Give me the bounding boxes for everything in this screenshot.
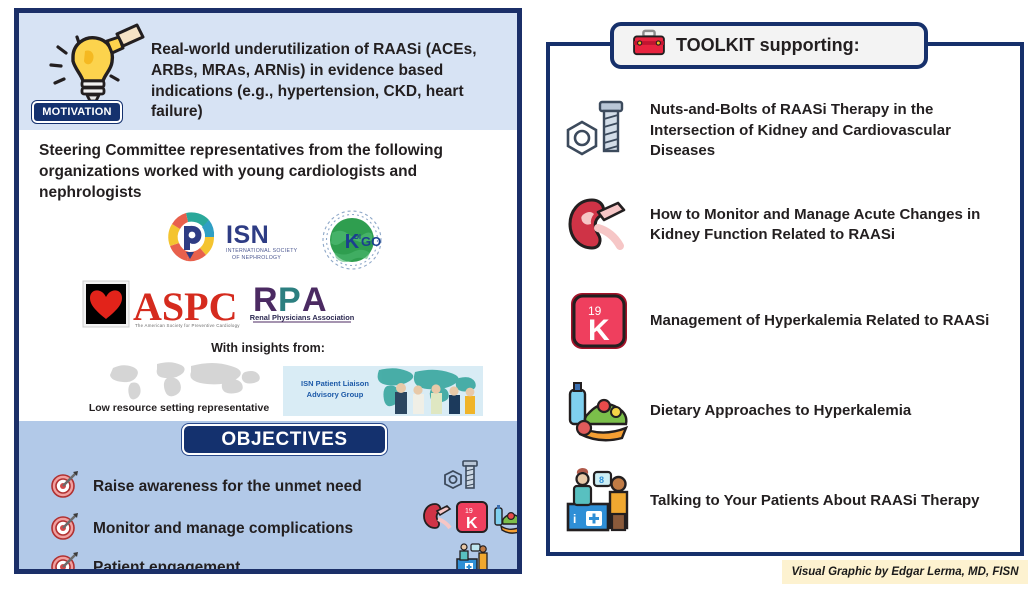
toolkit-item: i 8 Talking to Your Patients About RAASi… (564, 466, 1016, 536)
kidney-icon (564, 190, 634, 260)
doctor-patient-consult-icon (455, 541, 489, 574)
infographic-canvas: MOTIVATION Real-world underutilization o… (0, 0, 1034, 589)
right-panel: Nuts-and-Bolts of RAASi Therapy in the I… (546, 42, 1024, 556)
kidney-icon (421, 499, 455, 538)
world-map-grey-icon (79, 358, 279, 404)
toolkit-item-label: Management of Hyperkalemia Related to RA… (650, 311, 989, 331)
potassium-element-icon: 19 K (455, 500, 489, 539)
svg-text:i: i (573, 512, 576, 526)
objective-label: Monitor and manage complications (93, 520, 353, 538)
organization-logos-row-2: ASPC The American Society for Preventive… (19, 276, 517, 334)
svg-text:OF NEPHROLOGY: OF NEPHROLOGY (232, 255, 281, 261)
objectives-badge-label: OBJECTIVES (221, 429, 347, 451)
svg-text:ISN: ISN (226, 221, 269, 249)
target-dart-icon (49, 550, 79, 574)
objective-label: Patient engagement (93, 559, 240, 575)
nut-and-bolt-icon (564, 96, 634, 166)
svg-text:19: 19 (465, 508, 473, 515)
motivation-text: Real-world underutilization of RAASi (AC… (151, 40, 491, 123)
nut-and-bolt-icon (443, 457, 483, 502)
organization-logos-row-1: ISN INTERNATIONAL SOCIETY OF NEPHROLOGY … (19, 209, 517, 271)
toolkit-item: Dietary Approaches to Hyperkalemia (564, 376, 1016, 446)
svg-text:K: K (466, 515, 478, 532)
toolkit-item: How to Monitor and Manage Acute Changes … (564, 190, 1016, 260)
motivation-badge-label: MOTIVATION (42, 106, 111, 118)
low-resource-setting-block: Low resource setting representative (79, 358, 279, 420)
steering-committee-text: Steering Committee representatives from … (39, 141, 509, 203)
rpa-logo: R P A Renal Physicians Association (247, 278, 357, 332)
toolkit-item-label: Nuts-and-Bolts of RAASi Therapy in the I… (650, 100, 1016, 161)
svg-text:The American Society for Preve: The American Society for Preventive Card… (135, 323, 240, 328)
toolkit-item-label: Dietary Approaches to Hyperkalemia (650, 401, 911, 421)
toolkit-header-label: TOOLKIT supporting: (676, 35, 860, 56)
low-resource-caption: Low resource setting representative (79, 402, 279, 414)
objectives-badge: OBJECTIVES (182, 424, 387, 455)
insights-label: With insights from: (19, 341, 517, 355)
toolbox-icon (632, 29, 666, 62)
objective-row: Raise awareness for the unmet need (49, 469, 362, 504)
kdigo-logo: K GO DI (314, 209, 390, 271)
objective-row: Monitor and manage complications (49, 511, 353, 546)
target-dart-icon (49, 469, 79, 504)
doctor-patient-consult-icon: i 8 (564, 466, 634, 536)
isn-logo: ISN INTERNATIONAL SOCIETY OF NEPHROLOGY (164, 209, 306, 269)
toolkit-item-label: Talking to Your Patients About RAASi The… (650, 491, 979, 511)
isn-patient-liaison-banner: ISN Patient Liaison Advisory Group (283, 366, 483, 416)
credit-text: Visual Graphic by Edgar Lerma, MD, FISN (791, 566, 1018, 578)
healthy-food-icon (491, 502, 522, 541)
toolkit-item: Nuts-and-Bolts of RAASi Therapy in the I… (564, 96, 1016, 166)
svg-text:Renal Physicians Association: Renal Physicians Association (250, 313, 355, 322)
credit-banner: Visual Graphic by Edgar Lerma, MD, FISN (782, 560, 1028, 584)
svg-text:DI: DI (354, 234, 361, 241)
left-panel: MOTIVATION Real-world underutilization o… (14, 8, 522, 574)
objective-label: Raise awareness for the unmet need (93, 478, 362, 496)
toolkit-item-label: How to Monitor and Manage Acute Changes … (650, 205, 1016, 246)
target-dart-icon (49, 511, 79, 546)
svg-text:GO: GO (361, 234, 381, 249)
objective-row: Patient engagement (49, 550, 240, 574)
svg-text:INTERNATIONAL SOCIETY: INTERNATIONAL SOCIETY (226, 248, 298, 254)
svg-text:K: K (588, 314, 610, 347)
healthy-food-icon (564, 376, 634, 446)
aspc-logo: ASPC The American Society for Preventive… (81, 278, 258, 330)
potassium-element-icon: 19 K (564, 286, 634, 356)
liaison-banner-label: ISN Patient Liaison Advisory Group (289, 378, 381, 401)
toolkit-item: 19 K Management of Hyperkalemia Related … (564, 286, 1016, 356)
svg-text:8: 8 (599, 475, 604, 485)
motivation-badge: MOTIVATION (32, 101, 122, 123)
toolkit-header: TOOLKIT supporting: (610, 22, 928, 69)
